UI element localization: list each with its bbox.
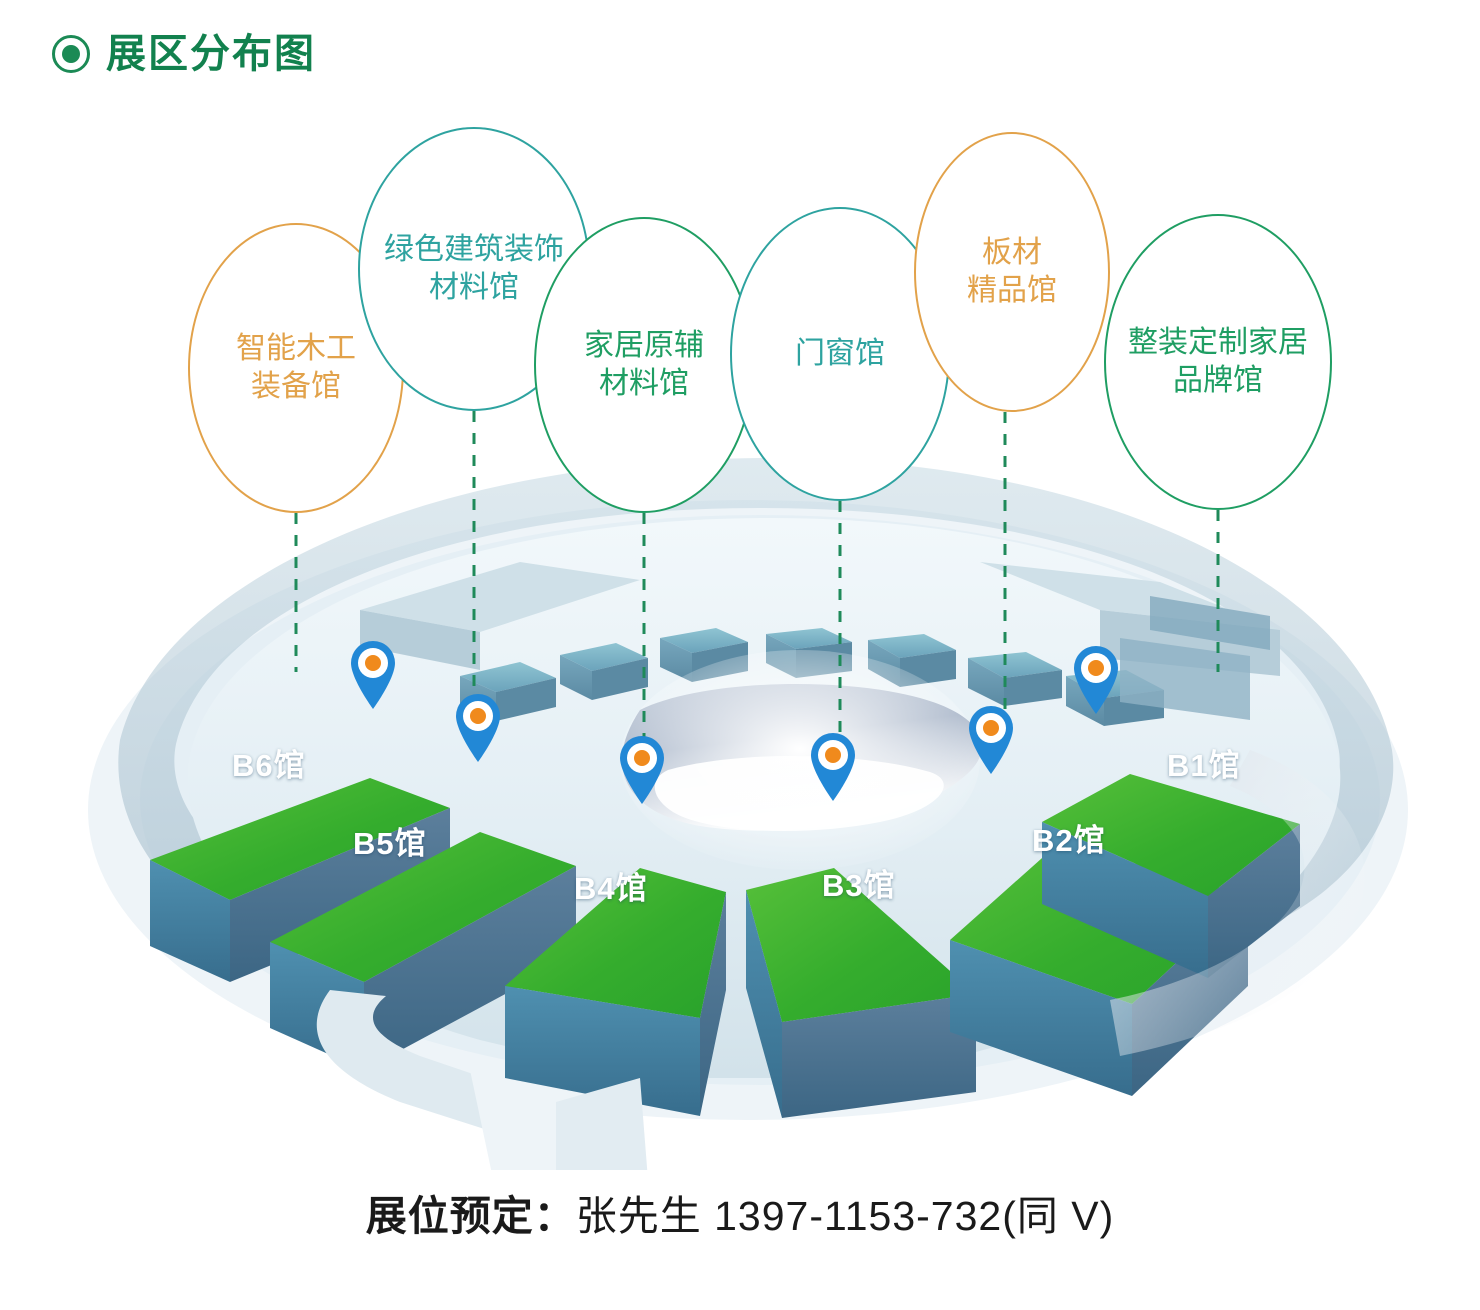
zone-bubble-5[interactable]: 板材 精品馆 xyxy=(914,132,1110,412)
hall-label-b4[interactable]: B4馆 xyxy=(574,863,648,908)
zone-bubble-3[interactable]: 家居原辅 材料馆 xyxy=(534,217,754,513)
zone-bubble-label: 板材 精品馆 xyxy=(957,234,1067,311)
footer: 展位预定：张先生 1397-1153-732(同 V) xyxy=(0,1182,1480,1242)
target-circle-icon xyxy=(52,35,90,73)
zone-bubble-label: 门窗馆 xyxy=(785,335,895,373)
pin-center-dot xyxy=(634,750,650,766)
zone-bubble-label: 家居原辅 材料馆 xyxy=(574,327,714,404)
zone-bubble-label: 智能木工 装备馆 xyxy=(226,330,366,407)
hall-label-b6[interactable]: B6馆 xyxy=(232,740,306,785)
booking-label: 展位预定： xyxy=(366,1193,576,1239)
booking-contact-line: 展位预定：张先生 1397-1153-732(同 V) xyxy=(0,1182,1480,1242)
pin-center-dot xyxy=(470,708,486,724)
pin-center-dot xyxy=(365,655,381,671)
zone-bubble-label: 整装定制家居 品牌馆 xyxy=(1118,324,1318,401)
zone-bubble-label: 绿色建筑装饰 材料馆 xyxy=(374,231,574,308)
page-title-bar: 展区分布图 xyxy=(52,34,316,74)
pin-center-dot xyxy=(983,720,999,736)
zone-bubble-6[interactable]: 整装定制家居 品牌馆 xyxy=(1104,214,1332,510)
page-title: 展区分布图 xyxy=(106,34,316,74)
hall-label-b5[interactable]: B5馆 xyxy=(353,818,427,863)
hall-label-b1[interactable]: B1馆 xyxy=(1167,740,1241,785)
pin-center-dot xyxy=(1088,660,1104,676)
pin-center-dot xyxy=(825,747,841,763)
hall-label-b3[interactable]: B3馆 xyxy=(822,860,896,905)
hall-label-b2[interactable]: B2馆 xyxy=(1032,815,1106,860)
booking-contact: 张先生 1397-1153-732(同 V) xyxy=(576,1193,1115,1239)
exhibition-map: 智能木工 装备馆绿色建筑装饰 材料馆家居原辅 材料馆门窗馆板材 精品馆整装定制家… xyxy=(0,110,1480,1170)
